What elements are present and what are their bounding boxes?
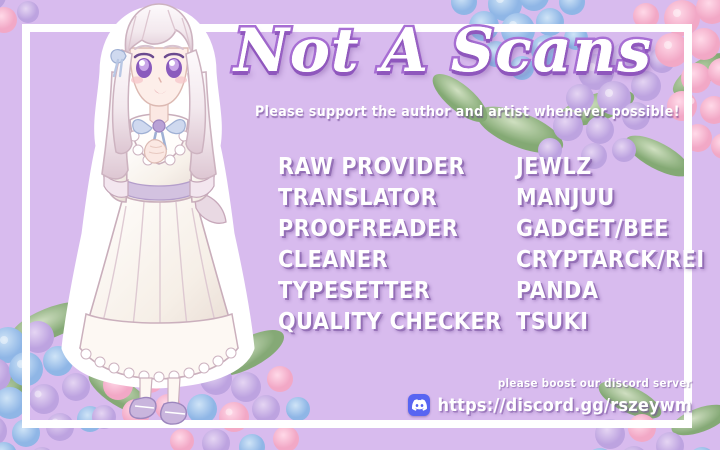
credit-role: TYPESETTER	[278, 276, 516, 307]
credit-name: MANJUU	[516, 183, 678, 214]
discord-link-row[interactable]: https://discord.gg/rszeywm	[408, 394, 692, 416]
credit-row: TRANSLATOR MANJUU	[278, 183, 678, 214]
discord-caption: please boost our discord server	[408, 376, 692, 390]
credit-name: GADGET/BEE	[516, 214, 678, 245]
credits-list: RAW PROVIDER JEWLZ TRANSLATOR MANJUU PRO…	[278, 152, 678, 338]
credit-row: CLEANER CRYPTARCK/REI	[278, 245, 678, 276]
discord-icon	[408, 394, 430, 416]
discord-block: please boost our discord server https://…	[408, 376, 692, 416]
credit-name: PANDA	[516, 276, 678, 307]
credit-role: QUALITY CHECKER	[278, 307, 516, 338]
support-tagline: Please support the author and artist whe…	[255, 104, 675, 120]
discord-url[interactable]: https://discord.gg/rszeywm	[437, 395, 692, 416]
credit-row: TYPESETTER PANDA	[278, 276, 678, 307]
credit-role: TRANSLATOR	[278, 183, 516, 214]
credits-page: Not A Scans Not A Scans Please support t…	[0, 0, 720, 450]
credit-row: QUALITY CHECKER TSUKI	[278, 307, 678, 338]
credit-name: JEWLZ	[516, 152, 678, 183]
site-title-overlay: Not A Scans	[234, 8, 694, 94]
credit-name: TSUKI	[516, 307, 678, 338]
site-title: Not A Scans Not A Scans	[234, 8, 694, 94]
credit-row: PROOFREADER GADGET/BEE	[278, 214, 678, 245]
credit-row: RAW PROVIDER JEWLZ	[278, 152, 678, 183]
credit-role: CLEANER	[278, 245, 516, 276]
credit-role: RAW PROVIDER	[278, 152, 516, 183]
credit-name: CRYPTARCK/REI	[516, 245, 705, 276]
credit-role: PROOFREADER	[278, 214, 516, 245]
character-illustration	[56, 0, 261, 426]
